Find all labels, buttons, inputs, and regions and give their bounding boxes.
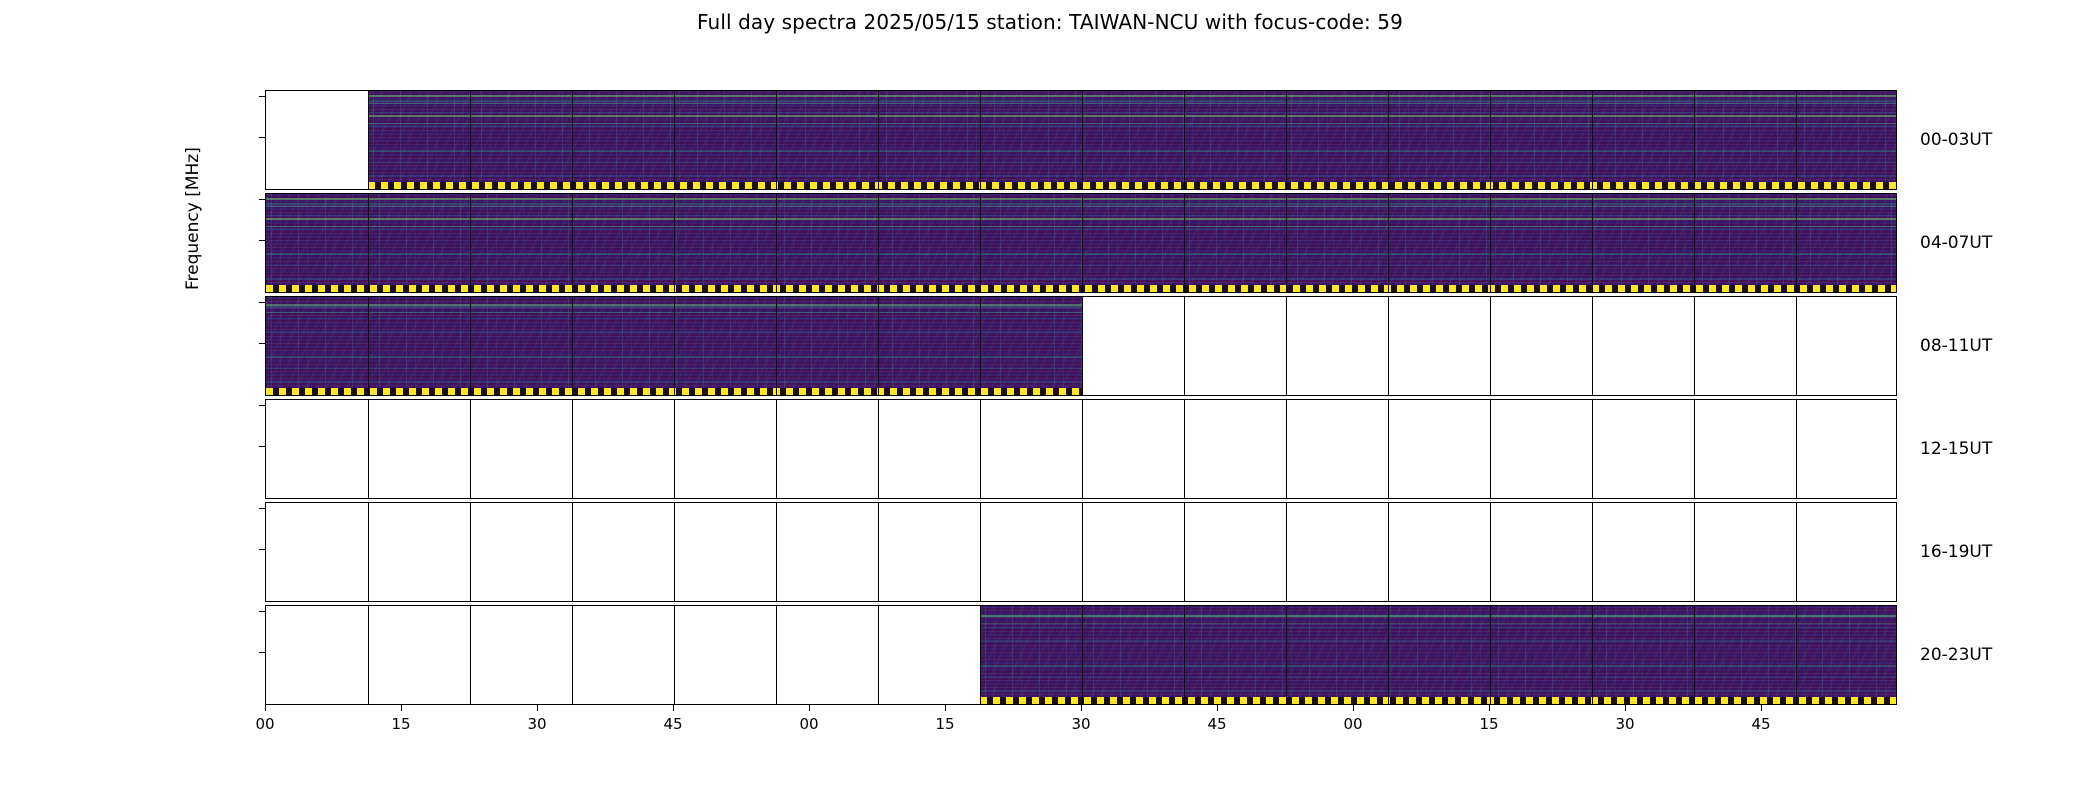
y-axis-tick [259,240,265,241]
subpanel-separator [572,400,573,498]
y-axis-title: Frequency [MHz] [183,147,203,290]
subpanel-separator [1490,503,1491,601]
x-axis-tick [1081,705,1082,711]
viridis-spectrogram-image [368,91,1897,189]
x-axis-tick [537,705,538,711]
x-axis-tick [1489,705,1490,711]
x-axis-tick-label: 15 [1469,715,1509,733]
subpanel-separator [368,606,369,704]
x-axis-tick [1625,705,1626,711]
x-axis-tick-label: 15 [925,715,965,733]
x-axis-tick-label: 15 [381,715,421,733]
x-axis-tick-label: 45 [653,715,693,733]
spectrogram-row-20-23ut[interactable] [265,605,1897,705]
subpanel-separator [1286,503,1287,601]
spectrogram-row-00-03ut[interactable] [265,90,1897,190]
burst-marker-strip [980,697,1897,704]
subpanel-separator [674,400,675,498]
subpanel-separator [1184,400,1185,498]
y-axis-tick [259,446,265,447]
x-axis-tick-label: 30 [1605,715,1645,733]
subpanel-separator [470,606,471,704]
subpanel-separator [1184,503,1185,601]
y-axis-tick [259,137,265,138]
subpanel-separator [1694,400,1695,498]
y-axis-tick [259,549,265,550]
subpanel-separator [1184,297,1185,395]
subpanel-separators [266,400,1896,498]
y-axis-tick [259,652,265,653]
x-axis-tick [1217,705,1218,711]
x-axis-tick-label: 00 [789,715,829,733]
spectrogram-layer-speckle [266,194,1897,292]
spectrogram-layer-speckle [266,297,1082,395]
subpanel-separator [878,400,879,498]
subpanel-separator [1592,400,1593,498]
subpanel-separator [1796,503,1797,601]
subpanel-separator [470,400,471,498]
spectrogram-layer-speckle [368,91,1897,189]
x-axis-tick-label: 00 [1333,715,1373,733]
row-time-range-label: 12-15UT [1920,439,1992,459]
spectrogram-row-04-07ut[interactable] [265,193,1897,293]
subpanel-separator [368,400,369,498]
subpanel-separator [1694,503,1695,601]
x-axis-tick-label: 30 [517,715,557,733]
row-time-range-label: 20-23UT [1920,645,1992,665]
subpanel-separator [1388,297,1389,395]
row-time-range-label: 08-11UT [1920,336,1992,356]
spectrogram-row-08-11ut[interactable] [265,296,1897,396]
subpanel-separator [776,503,777,601]
subpanel-separator [878,606,879,704]
subpanel-separator [1490,297,1491,395]
x-axis-tick [401,705,402,711]
subpanel-separator [980,503,981,601]
x-axis-tick [945,705,946,711]
y-axis-tick [259,343,265,344]
subpanel-separator [1082,297,1083,395]
y-axis-tick [259,405,265,406]
y-axis-tick [259,199,265,200]
y-axis-tick [259,611,265,612]
subpanel-separator [1796,297,1797,395]
subpanel-separator [980,400,981,498]
x-axis-tick-label: 30 [1061,715,1101,733]
viridis-spectrogram-image [266,194,1897,292]
subpanel-separator [1286,297,1287,395]
subpanel-separator [674,503,675,601]
spectrogram-data-band [266,194,1897,292]
x-axis-tick [1353,705,1354,711]
subpanel-separator [1592,297,1593,395]
subpanel-separator [572,606,573,704]
x-axis-tick [673,705,674,711]
spectrogram-data-band [980,606,1897,704]
burst-marker-strip [266,388,1082,395]
x-axis-tick-label: 45 [1741,715,1781,733]
subpanel-separator [1490,400,1491,498]
y-axis-tick [259,302,265,303]
burst-marker-strip [368,182,1897,189]
subpanel-separator [674,606,675,704]
spectrogram-row-12-15ut[interactable] [265,399,1897,499]
subpanel-separator [1796,400,1797,498]
subpanel-separator [878,503,879,601]
subpanel-separators [266,503,1896,601]
subpanel-separator [572,503,573,601]
subpanel-separator [776,400,777,498]
y-axis-tick [259,508,265,509]
x-axis-tick [265,705,266,711]
y-axis-tick [259,96,265,97]
subpanel-separator [1592,503,1593,601]
subpanel-separator [1082,503,1083,601]
viridis-spectrogram-image [980,606,1897,704]
subpanel-separator [1388,503,1389,601]
x-axis-tick [809,705,810,711]
subpanel-separator [470,503,471,601]
row-time-range-label: 00-03UT [1920,130,1992,150]
subpanel-separator [1388,400,1389,498]
viridis-spectrogram-image [266,297,1082,395]
row-time-range-label: 16-19UT [1920,542,1992,562]
spectrogram-data-band [266,297,1082,395]
x-axis-tick [1761,705,1762,711]
subpanel-separator [1286,400,1287,498]
subpanel-separator [776,606,777,704]
subpanel-separator [1082,400,1083,498]
spectrogram-axes-grid: 8060806080608060806080600015304500153045… [265,90,1897,705]
spectrogram-row-16-19ut[interactable] [265,502,1897,602]
spectrogram-data-band [368,91,1897,189]
figure-title: Full day spectra 2025/05/15 station: TAI… [0,8,2100,36]
spectrogram-layer-speckle [980,606,1897,704]
subpanel-separator [1694,297,1695,395]
subpanel-separator [368,503,369,601]
burst-marker-strip [266,285,1897,292]
x-axis-tick-label: 45 [1197,715,1237,733]
x-axis-tick-label: 00 [245,715,285,733]
row-time-range-label: 04-07UT [1920,233,1992,253]
